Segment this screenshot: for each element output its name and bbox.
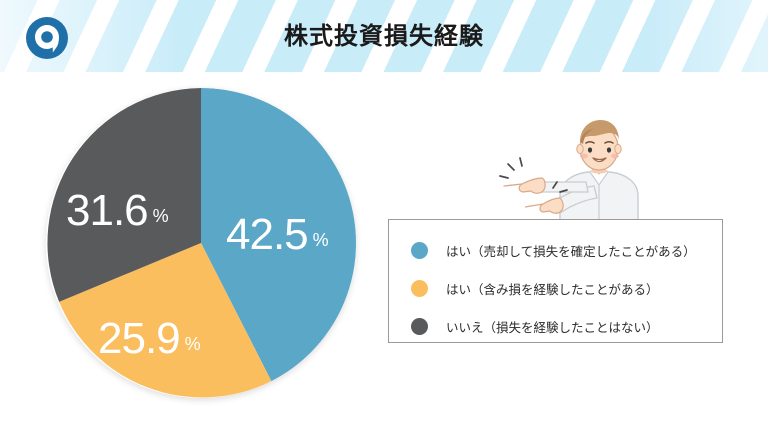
page-title: 株式投資損失経験 bbox=[0, 16, 768, 51]
pie-label-orange: 25.9% bbox=[98, 317, 201, 361]
pie-unit-gray: % bbox=[153, 206, 169, 226]
pie-label-gray: 31.6% bbox=[66, 189, 169, 233]
pie-label-blue: 42.5% bbox=[226, 213, 329, 257]
page-header: 株式投資損失経験 bbox=[0, 0, 768, 72]
legend-item[interactable]: いいえ（損失を経験したことはない） bbox=[411, 310, 722, 342]
man-pointing-left-illustration bbox=[498, 112, 674, 224]
legend-color-dot-blue bbox=[411, 242, 428, 259]
legend-label: はい（売却して損失を確定したことがある） bbox=[446, 241, 696, 260]
legend-item[interactable]: はい（売却して損失を確定したことがある） bbox=[411, 234, 722, 266]
legend-label: はい（含み損を経験したことがある） bbox=[446, 279, 659, 298]
chart-legend: はい（売却して損失を確定したことがある） はい（含み損を経験したことがある） い… bbox=[388, 219, 723, 343]
pie-unit-orange: % bbox=[185, 334, 201, 354]
legend-color-dot-orange bbox=[411, 280, 428, 297]
pie-value-blue: 42.5 bbox=[226, 210, 308, 259]
pie-value-gray: 31.6 bbox=[66, 186, 148, 235]
legend-item[interactable]: はい（含み損を経験したことがある） bbox=[411, 272, 722, 304]
pie-chart: 42.5% 25.9% 31.6% bbox=[40, 85, 360, 405]
legend-color-dot-gray bbox=[411, 318, 428, 335]
pie-value-orange: 25.9 bbox=[98, 314, 180, 363]
legend-label: いいえ（損失を経験したことはない） bbox=[446, 317, 659, 336]
pie-unit-blue: % bbox=[313, 230, 329, 250]
